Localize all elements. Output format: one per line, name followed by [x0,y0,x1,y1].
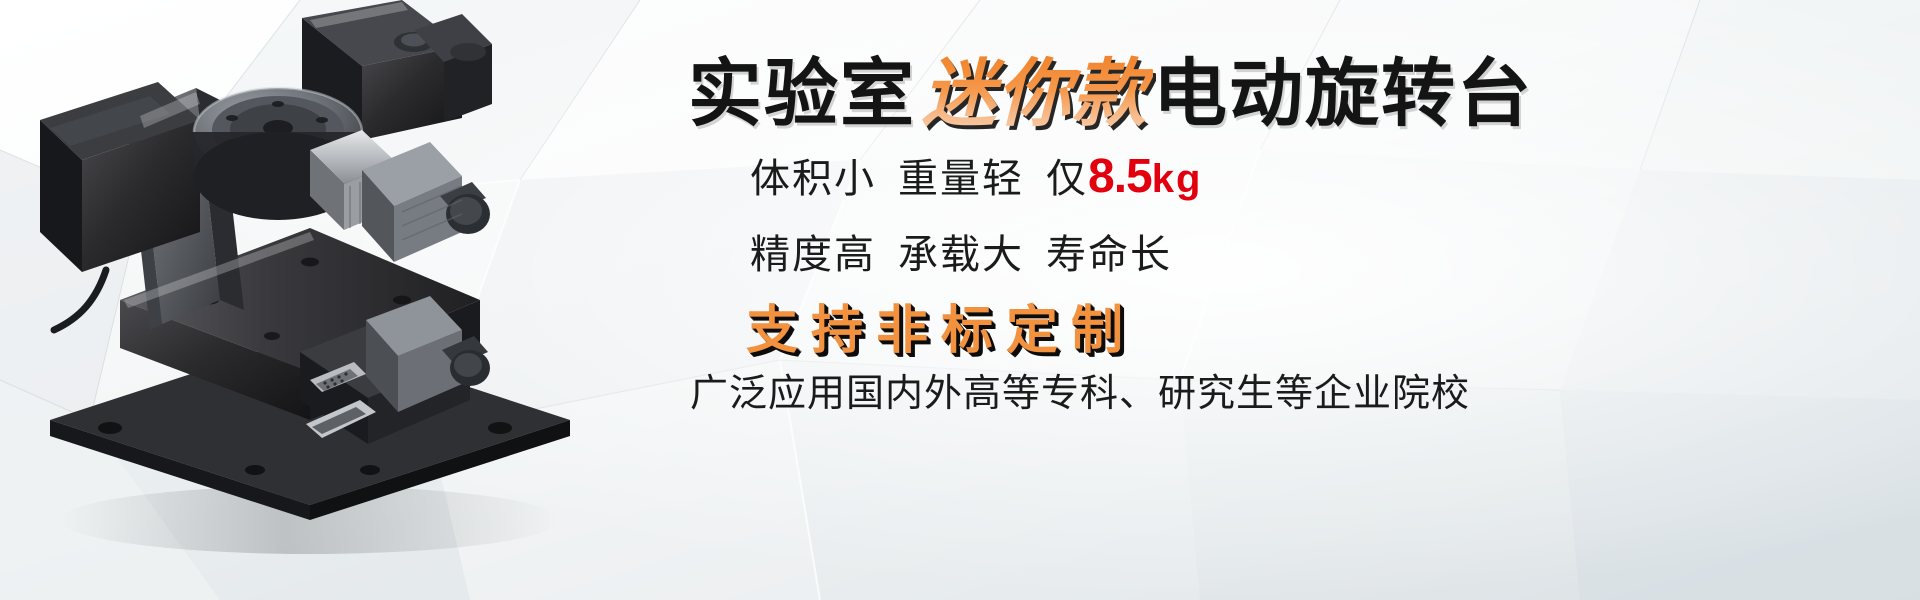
application-note: 广泛应用国内外高等专科、研究生等企业院校 [690,362,1470,417]
promo-banner: 实验室迷你款电动旋转台 体积小重量轻仅8.5kg 精度高承载大寿命长 支持非标定… [0,0,1920,600]
custom-order-tag: 支持非标定制 [746,288,1136,363]
feature-line-2: 精度高承载大寿命长 [750,222,1172,280]
feature-lifespan: 寿命长 [1046,233,1172,277]
feature-lightweight: 重量轻 [898,157,1024,201]
feature-compact: 体积小 [750,157,876,201]
weight-unit: kg [1152,157,1203,201]
banner-headline: 实验室迷你款电动旋转台 [688,34,1533,141]
feature-precision: 精度高 [750,233,876,277]
product-image [10,0,650,600]
headline-prefix: 实验室 [688,52,916,135]
feature-load: 承载大 [898,233,1024,277]
weight-prefix: 仅 [1046,157,1088,201]
headline-accent: 迷你款 [916,52,1153,135]
headline-suffix: 电动旋转台 [1153,52,1533,135]
weight-value: 8.5 [1088,150,1152,203]
banner-copy: 实验室迷你款电动旋转台 体积小重量轻仅8.5kg 精度高承载大寿命长 支持非标定… [688,0,1888,600]
feature-line-1: 体积小重量轻仅8.5kg [750,146,1202,204]
